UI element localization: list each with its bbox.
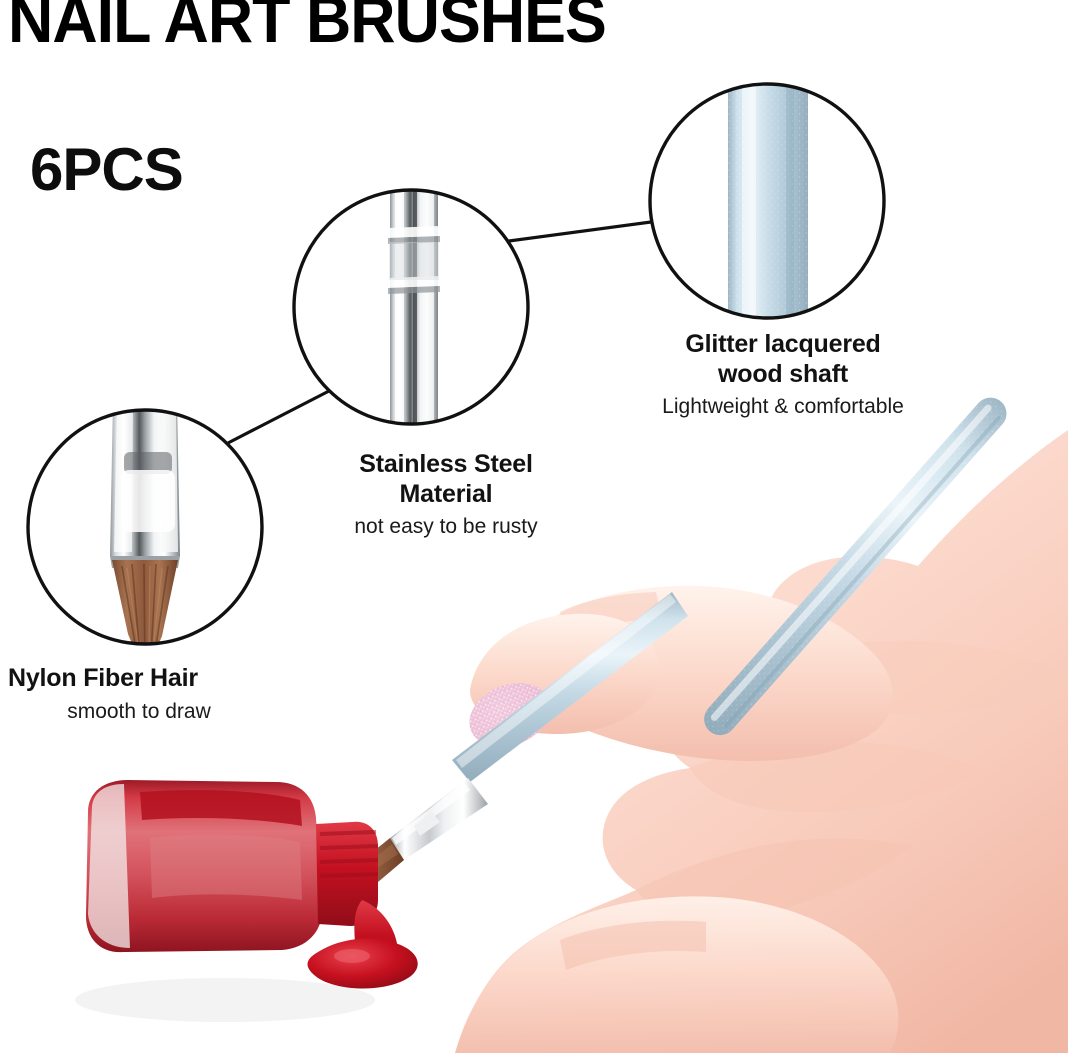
pink-glitter-nail [460,671,560,758]
callout-title: Glitter lacquered wood shaft [608,330,958,389]
callout-stainless-steel: Stainless Steel Material not easy to be … [300,450,592,540]
callout-subtitle: not easy to be rusty [300,513,592,540]
handle-lower-segment [452,592,688,782]
red-nail-polish-bottle [75,780,418,1022]
page-title: NAIL ART BRUSHES [8,0,606,52]
red-polish-spill [308,938,418,988]
detail-circle-wood-shaft [650,76,884,326]
callout-subtitle: smooth to draw [8,698,298,725]
brush-head-main [347,778,489,891]
callout-nylon-fiber-hair: Nylon Fiber Hair smooth to draw [8,664,298,725]
quantity-label: 6PCS [30,140,183,200]
callout-title: Stainless Steel Material [300,450,592,509]
leader-line-2 [494,222,651,243]
leader-line-1 [228,391,329,443]
product-infographic: NAIL ART BRUSHES 6PCS Nylon Fiber Hair s… [0,0,1068,1053]
callout-wood-shaft: Glitter lacquered wood shaft Lightweight… [608,330,958,420]
detail-circle-nylon-fiber-hair [28,400,262,668]
callout-subtitle: Lightweight & comfortable [608,393,958,420]
detail-circle-stainless-steel [294,182,528,432]
callout-title: Nylon Fiber Hair [8,664,298,694]
blue-glitter-wood-handle [698,391,1014,742]
